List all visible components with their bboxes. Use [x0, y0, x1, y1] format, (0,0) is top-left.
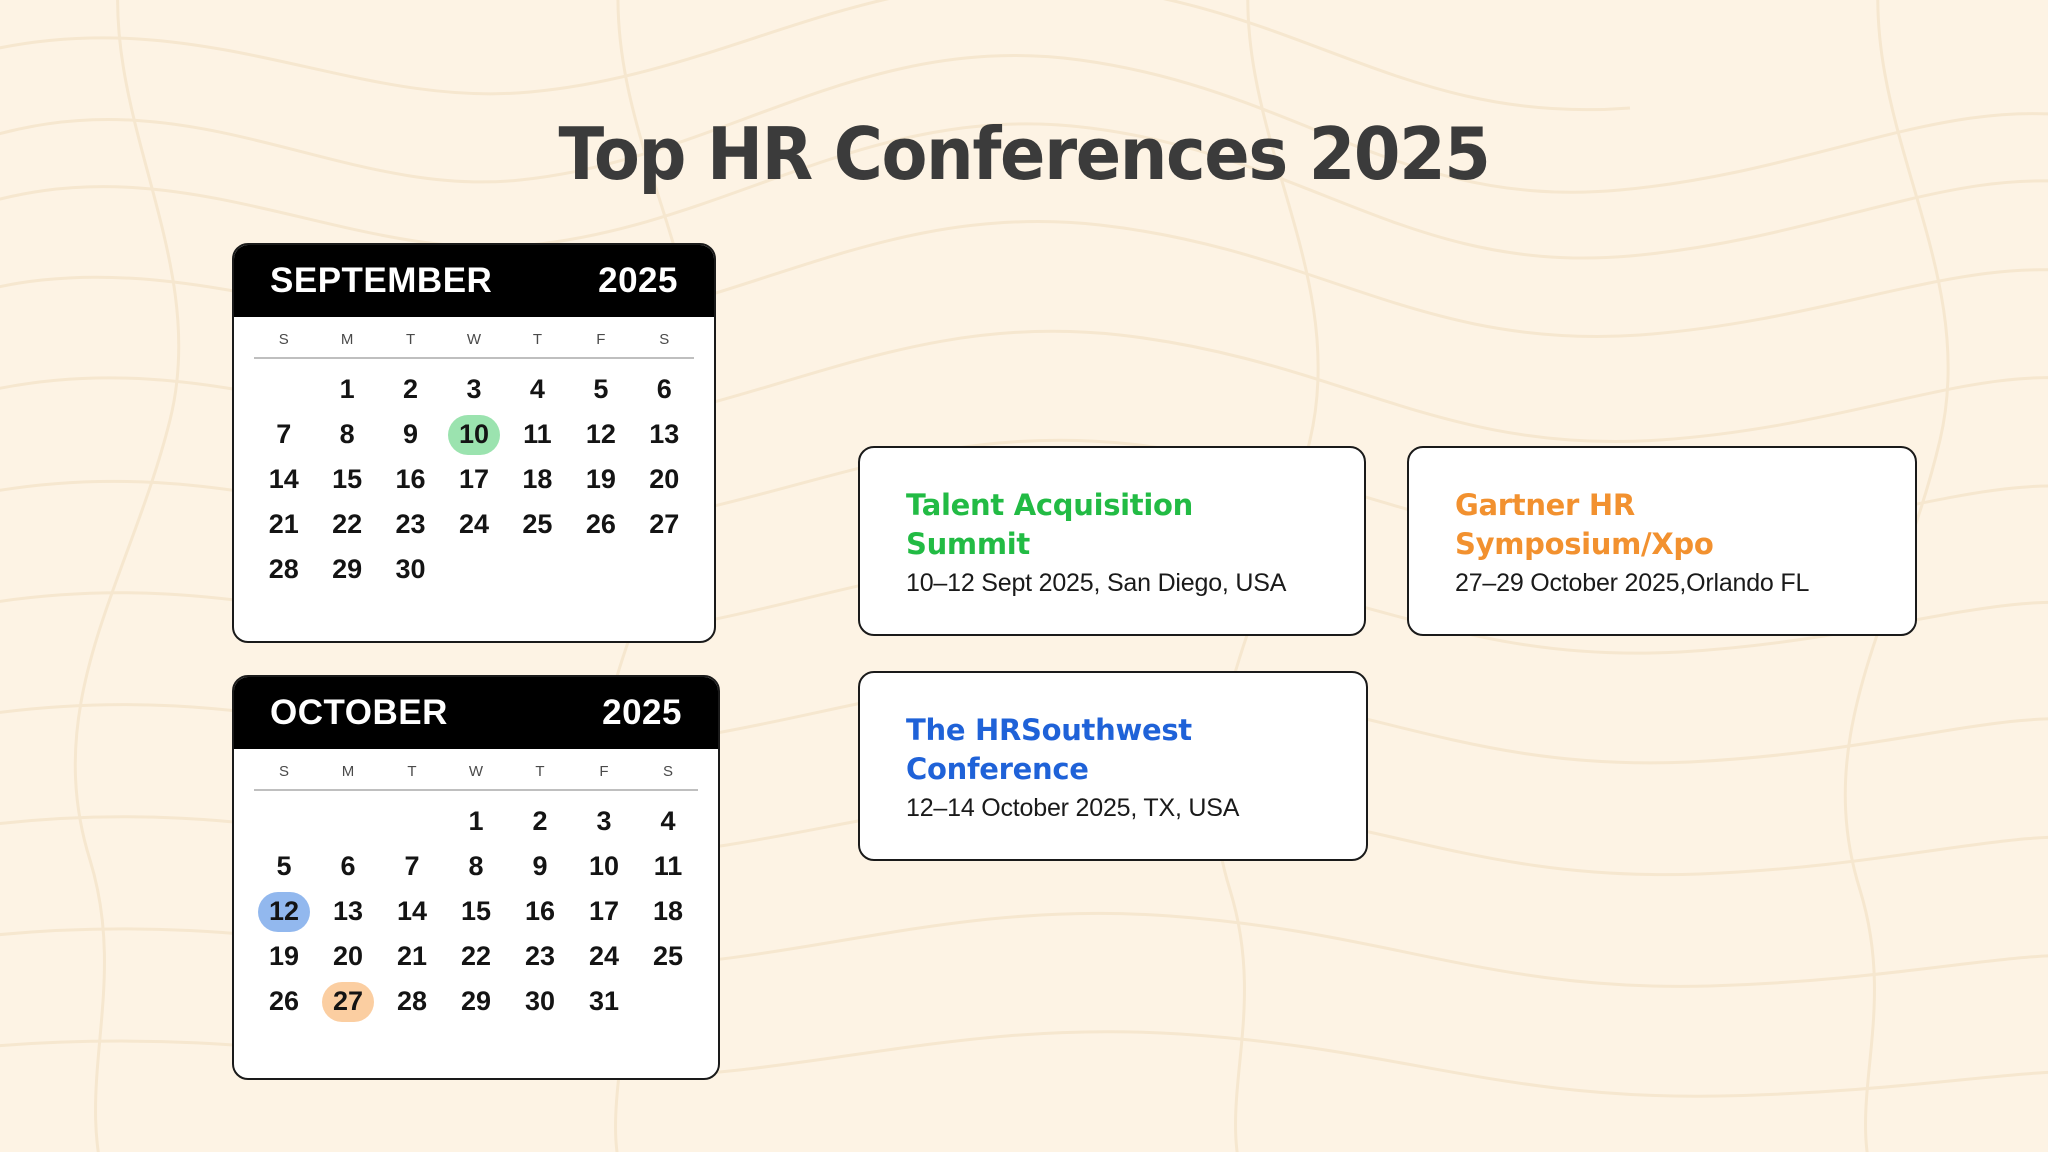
calendar-day-20[interactable]: 20 [316, 934, 380, 979]
weekday-header-row: S M T W T F S [252, 763, 700, 789]
calendar-day-18[interactable]: 18 [636, 889, 700, 934]
calendar-day-empty [252, 799, 316, 844]
calendar-day-15[interactable]: 15 [315, 457, 378, 502]
page-title: Top HR Conferences 2025 [72, 112, 1977, 196]
calendar-day-highlight-27: 27 [322, 982, 374, 1022]
weekday-label: W [442, 331, 505, 348]
calendar-day-9[interactable]: 9 [379, 412, 442, 457]
event-meta: 27–29 October 2025,Orlando FL [1455, 569, 1885, 598]
calendar-day-16[interactable]: 16 [508, 889, 572, 934]
calendar-day-3[interactable]: 3 [442, 367, 505, 412]
calendar-day-grid: 1234567891011121314151617181920212223242… [252, 367, 696, 592]
calendar-day-21[interactable]: 21 [252, 502, 315, 547]
calendar-day-12[interactable]: 12 [252, 889, 316, 934]
calendar-day-23[interactable]: 23 [508, 934, 572, 979]
calendar-day-empty [569, 547, 632, 592]
calendar-day-29[interactable]: 29 [444, 979, 508, 1024]
calendar-day-grid: 1234567891011121314151617181920212223242… [252, 799, 700, 1024]
calendar-day-7[interactable]: 7 [380, 844, 444, 889]
calendar-divider [254, 357, 694, 359]
calendar-day-19[interactable]: 19 [569, 457, 632, 502]
calendar-day-empty [633, 547, 696, 592]
calendar-header-october: OCTOBER 2025 [234, 677, 718, 749]
calendar-day-5[interactable]: 5 [569, 367, 632, 412]
calendar-september: SEPTEMBER 2025 S M T W T F S 12345678910… [232, 243, 716, 643]
calendar-day-16[interactable]: 16 [379, 457, 442, 502]
calendar-day-26[interactable]: 26 [252, 979, 316, 1024]
event-card-hrsouthwest-conference[interactable]: The HRSouthwest Conference 12–14 October… [858, 671, 1368, 861]
calendar-day-24[interactable]: 24 [572, 934, 636, 979]
calendar-day-30[interactable]: 30 [379, 547, 442, 592]
calendar-day-18[interactable]: 18 [506, 457, 569, 502]
calendar-day-6[interactable]: 6 [316, 844, 380, 889]
calendar-day-26[interactable]: 26 [569, 502, 632, 547]
weekday-label: T [379, 331, 442, 348]
calendar-day-1[interactable]: 1 [315, 367, 378, 412]
calendar-day-31[interactable]: 31 [572, 979, 636, 1024]
calendar-header-september: SEPTEMBER 2025 [234, 245, 714, 317]
calendar-day-27[interactable]: 27 [316, 979, 380, 1024]
calendar-day-8[interactable]: 8 [315, 412, 378, 457]
event-card-talent-acquisition-summit[interactable]: Talent Acquisition Summit 10–12 Sept 202… [858, 446, 1366, 636]
calendar-day-8[interactable]: 8 [444, 844, 508, 889]
calendar-day-19[interactable]: 19 [252, 934, 316, 979]
event-meta: 10–12 Sept 2025, San Diego, USA [906, 569, 1334, 598]
calendar-day-27[interactable]: 27 [633, 502, 696, 547]
weekday-label: M [315, 331, 378, 348]
calendar-day-highlight-12: 12 [258, 892, 310, 932]
calendar-day-11[interactable]: 11 [506, 412, 569, 457]
calendar-day-1[interactable]: 1 [444, 799, 508, 844]
weekday-label: W [444, 763, 508, 780]
calendar-day-25[interactable]: 25 [636, 934, 700, 979]
calendar-day-23[interactable]: 23 [379, 502, 442, 547]
calendar-day-empty [252, 367, 315, 412]
event-card-gartner-hr-symposium[interactable]: Gartner HR Symposium/Xpo 27–29 October 2… [1407, 446, 1917, 636]
calendar-day-20[interactable]: 20 [633, 457, 696, 502]
weekday-label: F [572, 763, 636, 780]
calendar-year-label: 2025 [598, 261, 678, 301]
calendar-day-empty [506, 547, 569, 592]
calendar-day-10[interactable]: 10 [572, 844, 636, 889]
calendar-month-label: OCTOBER [270, 693, 448, 733]
calendar-day-5[interactable]: 5 [252, 844, 316, 889]
calendar-day-12[interactable]: 12 [569, 412, 632, 457]
calendar-day-14[interactable]: 14 [252, 457, 315, 502]
calendar-day-29[interactable]: 29 [315, 547, 378, 592]
weekday-label: S [633, 331, 696, 348]
weekday-label: F [569, 331, 632, 348]
calendar-day-9[interactable]: 9 [508, 844, 572, 889]
calendar-year-label: 2025 [602, 693, 682, 733]
calendar-body-september: S M T W T F S 12345678910111213141516171… [234, 317, 714, 641]
calendar-day-21[interactable]: 21 [380, 934, 444, 979]
calendar-day-empty [636, 979, 700, 1024]
calendar-day-2[interactable]: 2 [379, 367, 442, 412]
weekday-header-row: S M T W T F S [252, 331, 696, 357]
weekday-label: S [252, 331, 315, 348]
calendar-day-11[interactable]: 11 [636, 844, 700, 889]
calendar-day-2[interactable]: 2 [508, 799, 572, 844]
weekday-label: S [636, 763, 700, 780]
event-title: Talent Acquisition Summit [906, 486, 1236, 563]
calendar-day-22[interactable]: 22 [315, 502, 378, 547]
calendar-day-empty [380, 799, 444, 844]
calendar-day-4[interactable]: 4 [636, 799, 700, 844]
calendar-day-25[interactable]: 25 [506, 502, 569, 547]
calendar-day-highlight-10: 10 [448, 415, 500, 455]
calendar-day-28[interactable]: 28 [252, 547, 315, 592]
calendar-day-empty [316, 799, 380, 844]
calendar-day-14[interactable]: 14 [380, 889, 444, 934]
weekday-label: T [508, 763, 572, 780]
calendar-october: OCTOBER 2025 S M T W T F S 1234567891011… [232, 675, 720, 1080]
calendar-day-13[interactable]: 13 [316, 889, 380, 934]
event-meta: 12–14 October 2025, TX, USA [906, 794, 1336, 823]
calendar-day-17[interactable]: 17 [442, 457, 505, 502]
weekday-label: M [316, 763, 380, 780]
calendar-body-october: S M T W T F S 12345678910111213141516171… [234, 749, 718, 1078]
weekday-label: T [380, 763, 444, 780]
calendar-day-28[interactable]: 28 [380, 979, 444, 1024]
calendar-day-24[interactable]: 24 [442, 502, 505, 547]
calendar-divider [254, 789, 698, 791]
calendar-month-label: SEPTEMBER [270, 261, 492, 301]
calendar-day-22[interactable]: 22 [444, 934, 508, 979]
event-title: The HRSouthwest Conference [906, 711, 1236, 788]
weekday-label: S [252, 763, 316, 780]
calendar-day-13[interactable]: 13 [633, 412, 696, 457]
calendar-day-7[interactable]: 7 [252, 412, 315, 457]
calendar-day-empty [442, 547, 505, 592]
calendar-day-30[interactable]: 30 [508, 979, 572, 1024]
calendar-day-6[interactable]: 6 [633, 367, 696, 412]
calendar-day-10[interactable]: 10 [442, 412, 505, 457]
weekday-label: T [506, 331, 569, 348]
calendar-day-4[interactable]: 4 [506, 367, 569, 412]
calendar-day-17[interactable]: 17 [572, 889, 636, 934]
event-title: Gartner HR Symposium/Xpo [1455, 486, 1785, 563]
calendar-day-15[interactable]: 15 [444, 889, 508, 934]
calendar-day-3[interactable]: 3 [572, 799, 636, 844]
